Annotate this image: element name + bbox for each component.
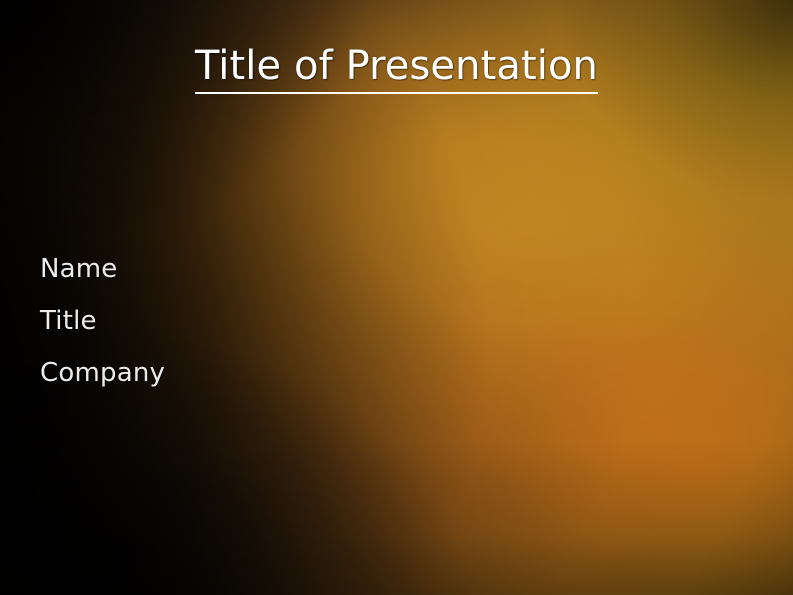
body-line-company: Company <box>40 347 165 399</box>
presentation-slide: Title of Presentation Name Title Company <box>0 0 793 595</box>
slide-content: Title of Presentation Name Title Company <box>0 0 793 595</box>
body-line-title: Title <box>40 295 165 347</box>
slide-title[interactable]: Title of Presentation <box>0 44 793 94</box>
slide-body-placeholder[interactable]: Name Title Company <box>40 243 165 399</box>
slide-title-text: Title of Presentation <box>195 44 598 94</box>
body-line-name: Name <box>40 243 165 295</box>
